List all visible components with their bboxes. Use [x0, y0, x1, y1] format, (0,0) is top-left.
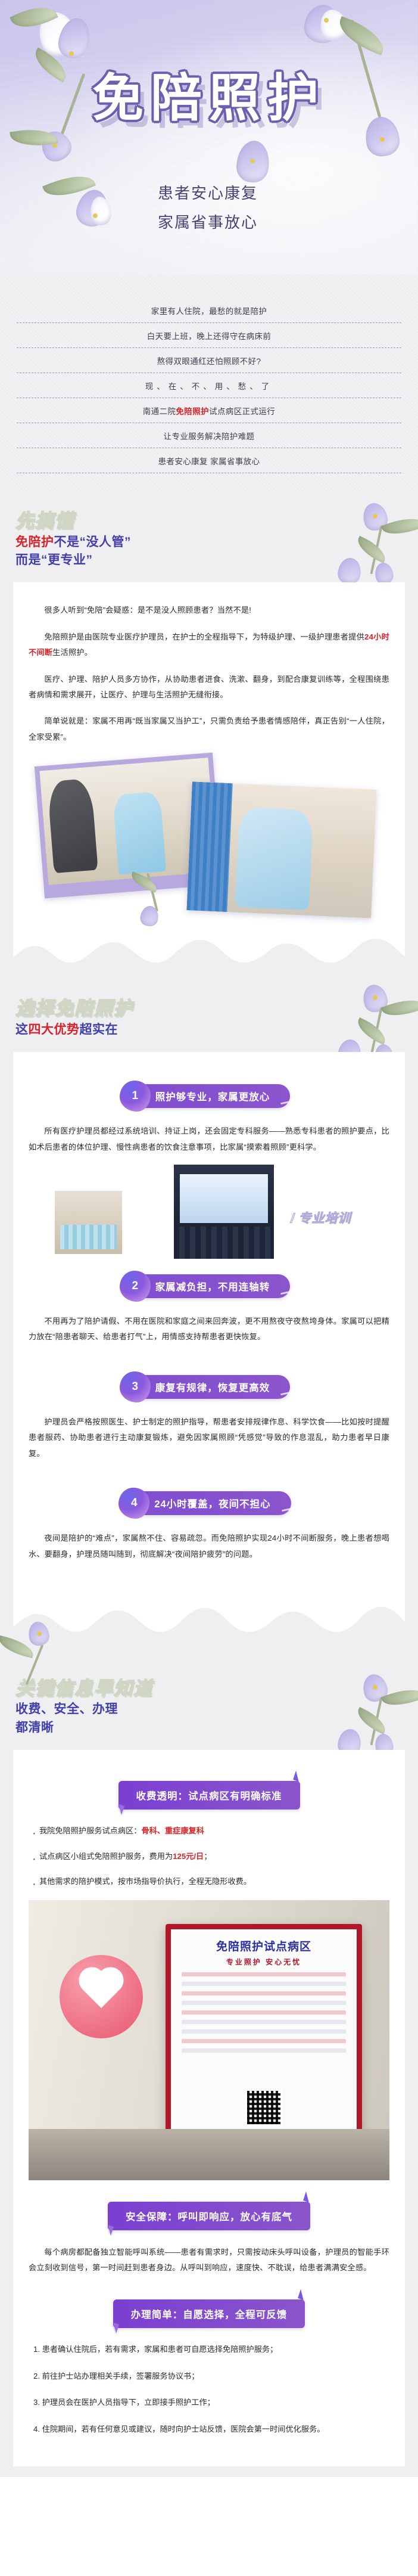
safety-ribbon-wrap: 安全保障：呼叫即响应，放心有底气	[29, 2202, 389, 2230]
advantage-pill-3: 3 康复有规律，恢复更高效	[29, 1375, 389, 1399]
section-subtitle-line-2: 而是“更专业”	[15, 551, 403, 569]
pill-number: 1	[120, 1081, 151, 1112]
wave-divider	[13, 1604, 405, 1642]
section-1-content-card: 很多人听到“免陪”会疑惑：是不是没人照顾患者？当然不是! 免陪照护是由医院专业医…	[13, 582, 405, 938]
item-highlight: 骨科、重症康复科	[141, 1826, 204, 1835]
list-item: 让专业服务解决陪护难题	[17, 423, 401, 448]
signage-row	[182, 1972, 346, 1976]
ribbon-fee: 收费透明：试点病区有明确标准	[118, 1781, 300, 1810]
pill-title: 照护够专业，家属更放心	[155, 1089, 270, 1103]
hero-subtitle-line-2: 家属省事放心	[158, 208, 258, 237]
photo-floor	[29, 2129, 389, 2180]
list-item: 白天要上班，晚上还得守在病床前	[17, 323, 401, 348]
pill-number: 4	[118, 1488, 149, 1519]
page-title: 免陪照护	[0, 73, 418, 124]
signage-row	[182, 2039, 346, 2043]
fee-ribbon-wrap: 收费透明：试点病区有明确标准	[29, 1781, 389, 1810]
butterfly-icon	[298, 2289, 314, 2303]
list-item-highlighted: 南通二院免陪照护试点病区正式运行	[17, 398, 401, 423]
section-ghost-title: 先搞懂	[15, 511, 403, 531]
pill: 1 照护够专业，家属更放心	[128, 1084, 291, 1108]
hero-subtitle-line-1: 患者安心康复	[158, 179, 258, 208]
section-3-content-card: 收费透明：试点病区有明确标准 我院免陪照护服务试点病区：骨科、重症康复科 试点病…	[13, 1750, 405, 2466]
heart-icon	[83, 1971, 120, 2008]
list-item: 其他需求的陪护模式，按市场指导价执行，全程无隐形收费。	[31, 1874, 387, 1889]
hero-subtitle: 患者安心康复 家属省事放心	[158, 179, 258, 238]
row-highlight: 免陪照护	[176, 407, 209, 416]
wave-shape-icon	[0, 939, 418, 977]
process-step-list: 1. 患者确认住院后，若有需求，家属和患者可自愿选择免陪照护服务； 2. 前往护…	[29, 2342, 389, 2437]
item-highlight: 125元/日	[173, 1852, 204, 1861]
intro-list: 家里有人住院，最愁的就是陪护 白天要上班，晚上还得守在病床前 熬得双眼通红还怕照…	[0, 274, 418, 494]
signage-row	[182, 2029, 346, 2034]
list-item: 2. 前往护士站办理相关手续，签署服务协议书；	[31, 2369, 387, 2383]
advantage-pill-2: 2 家属减负担，不用连轴转	[29, 1274, 389, 1298]
item-suffix: ；	[204, 1852, 211, 1861]
list-item: 3. 护理员会在医护人员指导下，立即接手照护工作；	[31, 2395, 387, 2410]
pill-title: 24小时覆盖，夜间不担心	[154, 1496, 270, 1510]
wave-divider	[13, 938, 405, 976]
list-item: 试点病区小组式免陪照护服务，费用为125元/日；	[31, 1849, 387, 1864]
butterfly-icon	[102, 2320, 119, 2334]
list-item: 我院免陪照护服务试点病区：骨科、重症康复科	[31, 1824, 387, 1838]
subtitle-blue-2: 超实在	[80, 1023, 118, 1036]
section-subtitle-rest: 不是“没人管”	[54, 535, 132, 549]
list-item: 1. 患者确认住院后，若有需求，家属和患者可自愿选择免陪照护服务；	[31, 2342, 387, 2357]
item-prefix: 试点病区小组式免陪照护服务，费用为	[39, 1852, 173, 1861]
ribbon-safety: 安全保障：呼叫即响应，放心有底气	[108, 2202, 310, 2230]
photo-training-lecture	[174, 1165, 274, 1259]
pill: 3 康复有规律，恢复更高效	[128, 1375, 291, 1399]
section-ghost-title: 关键信息早知道	[15, 1679, 403, 1699]
paragraph: 简单说就是：家属不用再“既当家属又当护工”，只需负责给予患者情感陪伴，真正告别“…	[29, 713, 389, 745]
paragraph: 护理员会严格按照医生、护士制定的照护指导，帮患者安排规律作息、科学饮食——比如按…	[29, 1414, 389, 1461]
list-item: 现、在、不、用、愁、了	[17, 373, 401, 398]
pill-title: 家属减负担，不用连轴转	[155, 1279, 270, 1293]
pill-title: 康复有规律，恢复更高效	[155, 1380, 270, 1394]
section-header-3: 关键信息早知道 收费、安全、办理 都清晰	[0, 1642, 418, 1750]
paragraph: 夜间是陪护的“难点”，家属熬不住、容易疏忽。而免陪照护实现24小时不间断服务，晚…	[29, 1531, 389, 1562]
swoosh-icon	[278, 1379, 301, 1396]
advantage-pill-1: 1 照护够专业，家属更放心	[29, 1084, 389, 1108]
signage-title: 免陪照护试点病区	[178, 1938, 350, 1954]
advantage-pill-4: 4 24小时覆盖，夜间不担心	[29, 1491, 389, 1515]
signage-row	[182, 2020, 346, 2024]
subtitle-blue-1: 这	[15, 1023, 29, 1036]
photo-caption: / 专业培训	[291, 1209, 351, 1227]
list-item: 家里有人住院，最愁的就是陪护	[17, 298, 401, 323]
section-subtitle: 收费、安全、办理 都清晰	[15, 1700, 403, 1737]
subtitle-red: 四大优势	[29, 1023, 80, 1036]
item-prefix: 其他需求的陪护模式，按市场指导价执行，全程无隐形收费。	[39, 1877, 251, 1886]
signage-row	[182, 2001, 346, 2005]
section-header-1: 先搞懂 免陪护不是“没人管” 而是“更专业”	[0, 494, 418, 582]
signage-row	[182, 1991, 346, 1995]
training-photo-row: / 专业培训	[29, 1166, 389, 1242]
swoosh-icon	[278, 1088, 301, 1105]
hero-banner: 免陪照护 患者安心康复 家属省事放心	[0, 0, 418, 274]
photo-pilot-ward-signage: 免陪照护试点病区 专业照护 安心无忧 南通市第二人民医院	[29, 1900, 389, 2180]
paragraph: 所有医疗护理员都经过系统培训、持证上岗，还会固定专科服务——熟悉专科患者的照护要…	[29, 1123, 389, 1155]
paragraph-part-b: 生活照护。	[52, 648, 92, 657]
section-header-2: 选择免陪照护 这四大优势超实在	[0, 976, 418, 1052]
ribbon-label: 收费透明：试点病区有明确标准	[136, 1791, 282, 1802]
list-item: 熬得双眼通红还怕照顾不好?	[17, 348, 401, 373]
pill-number: 2	[120, 1271, 151, 1302]
signage-row	[182, 2049, 346, 2053]
list-item: 患者安心康复 家属省事放心	[17, 448, 401, 473]
section-subtitle-line-1: 收费、安全、办理	[15, 1700, 403, 1718]
photo-image	[186, 782, 376, 918]
photo-bedside-care	[186, 782, 376, 918]
signage-row	[182, 1982, 346, 1986]
section-subtitle-red: 免陪护	[15, 535, 54, 549]
paragraph: 每个病房都配备独立智能呼叫系统——患者有需求时，只需按动床头呼叫设备，护理员的智…	[29, 2245, 389, 2276]
section-subtitle-line-2: 都清晰	[15, 1719, 403, 1737]
paragraph: 很多人听到“免陪”会疑惑：是不是没人照顾患者？当然不是!	[29, 603, 389, 618]
row-suffix: 试点病区正式运行	[209, 407, 275, 416]
item-prefix: 我院免陪照护服务试点病区：	[39, 1826, 141, 1835]
section-subtitle: 免陪护不是“没人管” 而是“更专业”	[15, 533, 403, 570]
qr-code-icon	[245, 2089, 282, 2126]
photo-inner	[186, 782, 376, 918]
paragraph: 医疗、护理、陪护人员多方协作，从协助患者进食、洗漱、翻身，到配合康复训练等，全程…	[29, 672, 389, 703]
butterfly-icon	[108, 1802, 124, 1815]
list-item: 4. 住院期间，若有任何意见或建议，随时向护士站反馈，医院会第一时间优化服务。	[31, 2422, 387, 2437]
wave-shape-icon	[0, 1604, 418, 1643]
butterfly-icon	[303, 2191, 320, 2205]
pill: 4 24小时覆盖，夜间不担心	[127, 1491, 291, 1515]
row-prefix: 南通二院	[143, 407, 176, 416]
butterfly-icon	[293, 1771, 310, 1784]
photo-collage	[29, 756, 389, 917]
section-ghost-title: 选择免陪照护	[15, 999, 403, 1019]
section-subtitle: 这四大优势超实在	[15, 1021, 403, 1039]
paragraph: 免陪照护是由医院专业医疗护理员，在护士的全程指导下，为特级护理、一级护理患者提供…	[29, 629, 389, 661]
ribbon-process: 办理简单：自愿选择，全程可反馈	[113, 2299, 305, 2328]
hospital-logo	[60, 1955, 143, 2038]
paragraph-part-a: 免陪照护是由医院专业医疗护理员，在护士的全程指导下，为特级护理、一级护理患者提供	[44, 632, 364, 641]
pill: 2 家属减负担，不用连轴转	[128, 1274, 291, 1298]
paragraph: 不用再为了陪护请假、不用在医院和家庭之间来回奔波，更不用熬夜守夜熬垮身体。家属可…	[29, 1314, 389, 1345]
ribbon-label: 安全保障：呼叫即响应，放心有底气	[126, 2212, 292, 2223]
swoosh-icon	[279, 1495, 302, 1512]
article-page: 免陪照护 患者安心康复 家属省事放心 家里有人住院，最愁的就是陪护 白天要上班，…	[0, 0, 418, 2477]
photo-training-group	[55, 1191, 122, 1254]
section-2-content-card: 1 照护够专业，家属更放心 所有医疗护理员都经过系统培训、持证上岗，还会固定专科…	[13, 1052, 405, 1604]
signage-subtitle: 专业照护 安心无忧	[178, 1957, 350, 1967]
ribbon-label: 办理简单：自愿选择，全程可反馈	[131, 2310, 288, 2320]
signage-board: 免陪照护试点病区 专业照护 安心无忧 南通市第二人民医院	[166, 1924, 362, 2158]
signage-row	[182, 2010, 346, 2015]
butterfly-icon	[97, 2222, 114, 2236]
page-bottom-spacer	[0, 2466, 418, 2477]
pill-number: 3	[120, 1371, 151, 1402]
process-ribbon-wrap: 办理简单：自愿选择，全程可反馈	[29, 2299, 389, 2328]
swoosh-icon	[278, 1278, 301, 1295]
fee-bullet-list: 我院免陪照护服务试点病区：骨科、重症康复科 试点病区小组式免陪照护服务，费用为1…	[29, 1824, 389, 1889]
